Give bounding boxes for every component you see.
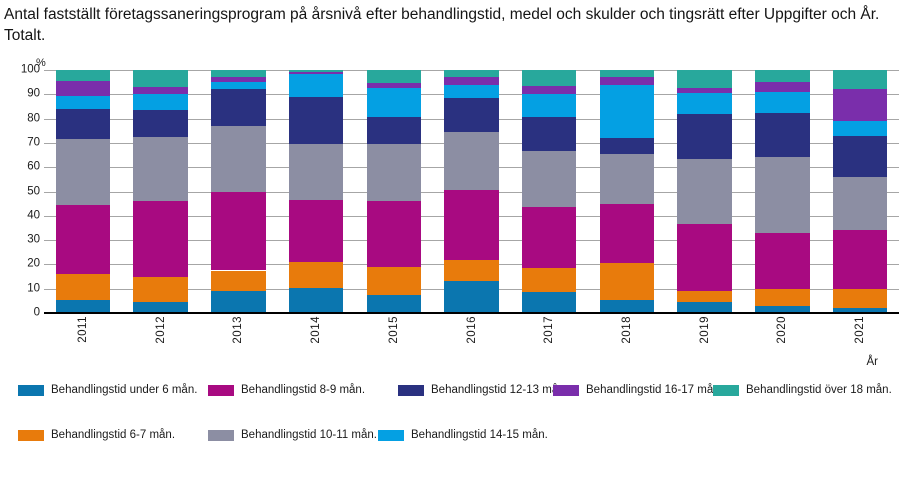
bar-group-2020[interactable] — [755, 70, 809, 313]
bar-segment[interactable] — [367, 70, 421, 83]
legend-label: Behandlingstid 14-15 mån. — [411, 429, 548, 441]
bar-segment[interactable] — [755, 233, 809, 289]
x-tick-label-2019: 2019 — [699, 316, 711, 344]
plot-area — [44, 70, 899, 313]
x-tick-label-2021: 2021 — [854, 316, 866, 344]
bar-segment[interactable] — [133, 201, 187, 276]
x-axis-tick-labels: 2011201220132014201520162017201820192020… — [44, 316, 899, 366]
legend-label: Behandlingstid 8-9 mån. — [241, 384, 365, 396]
bar-segment[interactable] — [677, 70, 731, 88]
bar-segment[interactable] — [289, 288, 343, 314]
legend-item[interactable]: Behandlingstid över 18 mån. — [713, 382, 892, 398]
bar-segment[interactable] — [833, 177, 887, 230]
bar-segment[interactable] — [56, 139, 110, 205]
bar-segment[interactable] — [600, 154, 654, 204]
bar-segment[interactable] — [289, 70, 343, 72]
legend-label: Behandlingstid 16-17 mån. — [586, 384, 723, 396]
bar-segment[interactable] — [289, 262, 343, 288]
chart-legend: Behandlingstid under 6 mån.Behandlingsti… — [0, 382, 900, 452]
bar-segment[interactable] — [444, 260, 498, 282]
bar-segment[interactable] — [600, 263, 654, 299]
bar-segment[interactable] — [600, 138, 654, 154]
x-tick-label-2012: 2012 — [155, 316, 167, 344]
bar-segment[interactable] — [522, 70, 576, 86]
bar-segment[interactable] — [677, 159, 731, 225]
bar-segment[interactable] — [833, 136, 887, 177]
bar-segment[interactable] — [56, 81, 110, 96]
y-tick-label-50: 50 — [2, 186, 40, 197]
bar-segment[interactable] — [677, 291, 731, 302]
bar-stack — [211, 70, 265, 313]
bar-segment[interactable] — [833, 289, 887, 308]
legend-label: Behandlingstid 10-11 mån. — [241, 429, 377, 441]
legend-row-primary: Behandlingstid under 6 mån.Behandlingsti… — [0, 382, 900, 406]
bar-segment[interactable] — [444, 85, 498, 98]
legend-color-swatch — [378, 430, 404, 441]
bar-group-2013[interactable] — [211, 70, 265, 313]
legend-color-swatch — [208, 430, 234, 441]
bar-segment[interactable] — [289, 72, 343, 73]
bar-segment[interactable] — [522, 292, 576, 313]
y-tick-label-30: 30 — [2, 235, 40, 246]
x-axis-baseline — [44, 312, 899, 314]
bar-segment[interactable] — [289, 74, 343, 97]
bar-segment[interactable] — [211, 291, 265, 313]
bar-segment[interactable] — [367, 267, 421, 295]
bar-segment[interactable] — [522, 94, 576, 117]
bar-segment[interactable] — [56, 96, 110, 109]
bar-segment[interactable] — [755, 157, 809, 232]
bar-group-2017[interactable] — [522, 70, 576, 313]
x-tick-label-2020: 2020 — [776, 316, 788, 344]
bar-segment[interactable] — [56, 274, 110, 300]
bar-segment[interactable] — [444, 281, 498, 313]
legend-item[interactable]: Behandlingstid 6-7 mån. — [18, 427, 175, 443]
bar-segment[interactable] — [522, 86, 576, 95]
bar-stack — [367, 70, 421, 313]
y-tick-label-10: 10 — [2, 283, 40, 294]
y-tick-label-100: 100 — [2, 65, 40, 76]
bar-segment[interactable] — [444, 98, 498, 132]
y-tick-label-70: 70 — [2, 137, 40, 148]
bar-stack — [133, 70, 187, 313]
bar-segment[interactable] — [367, 201, 421, 267]
bar-segment[interactable] — [677, 114, 731, 159]
legend-label: Behandlingstid över 18 mån. — [746, 384, 892, 396]
y-tick-label-20: 20 — [2, 259, 40, 270]
bar-segment[interactable] — [367, 144, 421, 201]
x-tick-label-2014: 2014 — [310, 316, 322, 344]
bar-stack — [56, 70, 110, 313]
bar-segment[interactable] — [133, 87, 187, 94]
bar-segment[interactable] — [522, 268, 576, 292]
legend-color-swatch — [398, 385, 424, 396]
bar-segment[interactable] — [600, 85, 654, 138]
bar-segment[interactable] — [677, 93, 731, 114]
bar-segment[interactable] — [677, 88, 731, 93]
bar-segment[interactable] — [755, 289, 809, 306]
bar-segment[interactable] — [755, 82, 809, 92]
bar-segment[interactable] — [833, 89, 887, 121]
bar-segment[interactable] — [367, 88, 421, 117]
bar-segment[interactable] — [211, 77, 265, 82]
x-tick-label-2018: 2018 — [621, 316, 633, 344]
bar-segment[interactable] — [833, 230, 887, 288]
bar-segment[interactable] — [522, 117, 576, 151]
x-tick-label-2011: 2011 — [77, 316, 89, 343]
bar-segment[interactable] — [600, 70, 654, 77]
legend-label: Behandlingstid 12-13 mån. — [431, 384, 568, 396]
bar-segment[interactable] — [211, 126, 265, 192]
legend-color-swatch — [713, 385, 739, 396]
legend-item[interactable]: Behandlingstid 16-17 mån. — [553, 382, 723, 398]
bar-segment[interactable] — [755, 92, 809, 113]
legend-label: Behandlingstid under 6 mån. — [51, 384, 197, 396]
y-tick-label-80: 80 — [2, 113, 40, 124]
bar-segment[interactable] — [211, 70, 265, 77]
bar-stack — [289, 70, 343, 313]
bar-segment[interactable] — [289, 97, 343, 144]
x-axis-title: År — [867, 356, 879, 368]
bar-segment[interactable] — [367, 117, 421, 144]
bar-segment[interactable] — [289, 200, 343, 262]
bar-segment[interactable] — [444, 70, 498, 77]
bar-segment[interactable] — [133, 137, 187, 201]
bar-segment[interactable] — [677, 224, 731, 291]
legend-color-swatch — [18, 430, 44, 441]
bar-segment[interactable] — [522, 207, 576, 268]
bar-segment[interactable] — [133, 70, 187, 87]
bar-segment[interactable] — [56, 109, 110, 139]
bar-group-2021[interactable] — [833, 70, 887, 313]
bar-stack — [755, 70, 809, 313]
bar-group-2016[interactable] — [444, 70, 498, 313]
bar-group-2011[interactable] — [56, 70, 110, 313]
bar-group-2018[interactable] — [600, 70, 654, 313]
bar-segment[interactable] — [522, 151, 576, 207]
chart-title: Antal fastställt företagssaneringsprogra… — [4, 4, 894, 46]
y-tick-label-60: 60 — [2, 162, 40, 173]
bar-segment[interactable] — [211, 271, 265, 292]
legend-color-swatch — [553, 385, 579, 396]
legend-item[interactable]: Behandlingstid 14-15 mån. — [378, 427, 548, 443]
bar-segment[interactable] — [755, 70, 809, 82]
legend-item[interactable]: Behandlingstid 8-9 mån. — [208, 382, 365, 398]
bar-segment[interactable] — [211, 82, 265, 89]
bar-segment[interactable] — [600, 204, 654, 264]
bar-segment[interactable] — [444, 132, 498, 190]
legend-row-secondary: Behandlingstid 6-7 mån.Behandlingstid 10… — [0, 427, 900, 451]
bar-segment[interactable] — [211, 89, 265, 125]
y-tick-label-40: 40 — [2, 210, 40, 221]
bar-segment[interactable] — [133, 277, 187, 303]
bar-segment[interactable] — [833, 70, 887, 89]
y-tick-label-0: 0 — [2, 308, 40, 319]
x-tick-label-2017: 2017 — [543, 316, 555, 344]
bar-segment[interactable] — [56, 300, 110, 313]
bar-segment[interactable] — [56, 70, 110, 81]
bar-segment[interactable] — [289, 144, 343, 200]
bar-stack — [444, 70, 498, 313]
bar-segment[interactable] — [133, 110, 187, 137]
bar-segment[interactable] — [444, 77, 498, 84]
legend-item[interactable]: Behandlingstid under 6 mån. — [18, 382, 197, 398]
bar-segment[interactable] — [833, 121, 887, 136]
bar-segment[interactable] — [211, 192, 265, 271]
bar-stack — [600, 70, 654, 313]
bar-group-2015[interactable] — [367, 70, 421, 313]
bar-group-2012[interactable] — [133, 70, 187, 313]
bar-series-container — [44, 70, 899, 313]
bar-segment[interactable] — [600, 77, 654, 84]
bar-segment[interactable] — [133, 94, 187, 110]
bar-group-2019[interactable] — [677, 70, 731, 313]
y-tick-label-90: 90 — [2, 89, 40, 100]
bar-stack — [522, 70, 576, 313]
x-tick-label-2015: 2015 — [388, 316, 400, 344]
x-tick-label-2016: 2016 — [466, 316, 478, 344]
legend-item[interactable]: Behandlingstid 12-13 mån. — [398, 382, 568, 398]
bar-segment[interactable] — [56, 205, 110, 274]
bar-segment[interactable] — [755, 113, 809, 158]
legend-color-swatch — [18, 385, 44, 396]
bar-stack — [677, 70, 731, 313]
bar-segment[interactable] — [367, 83, 421, 88]
bar-segment[interactable] — [600, 300, 654, 313]
bar-segment[interactable] — [367, 295, 421, 313]
legend-item[interactable]: Behandlingstid 10-11 mån. — [208, 427, 377, 443]
legend-label: Behandlingstid 6-7 mån. — [51, 429, 175, 441]
y-axis: 0102030405060708090100 — [0, 70, 40, 313]
legend-color-swatch — [208, 385, 234, 396]
x-tick-label-2013: 2013 — [232, 316, 244, 344]
bar-segment[interactable] — [444, 190, 498, 259]
bar-stack — [833, 70, 887, 313]
bar-group-2014[interactable] — [289, 70, 343, 313]
